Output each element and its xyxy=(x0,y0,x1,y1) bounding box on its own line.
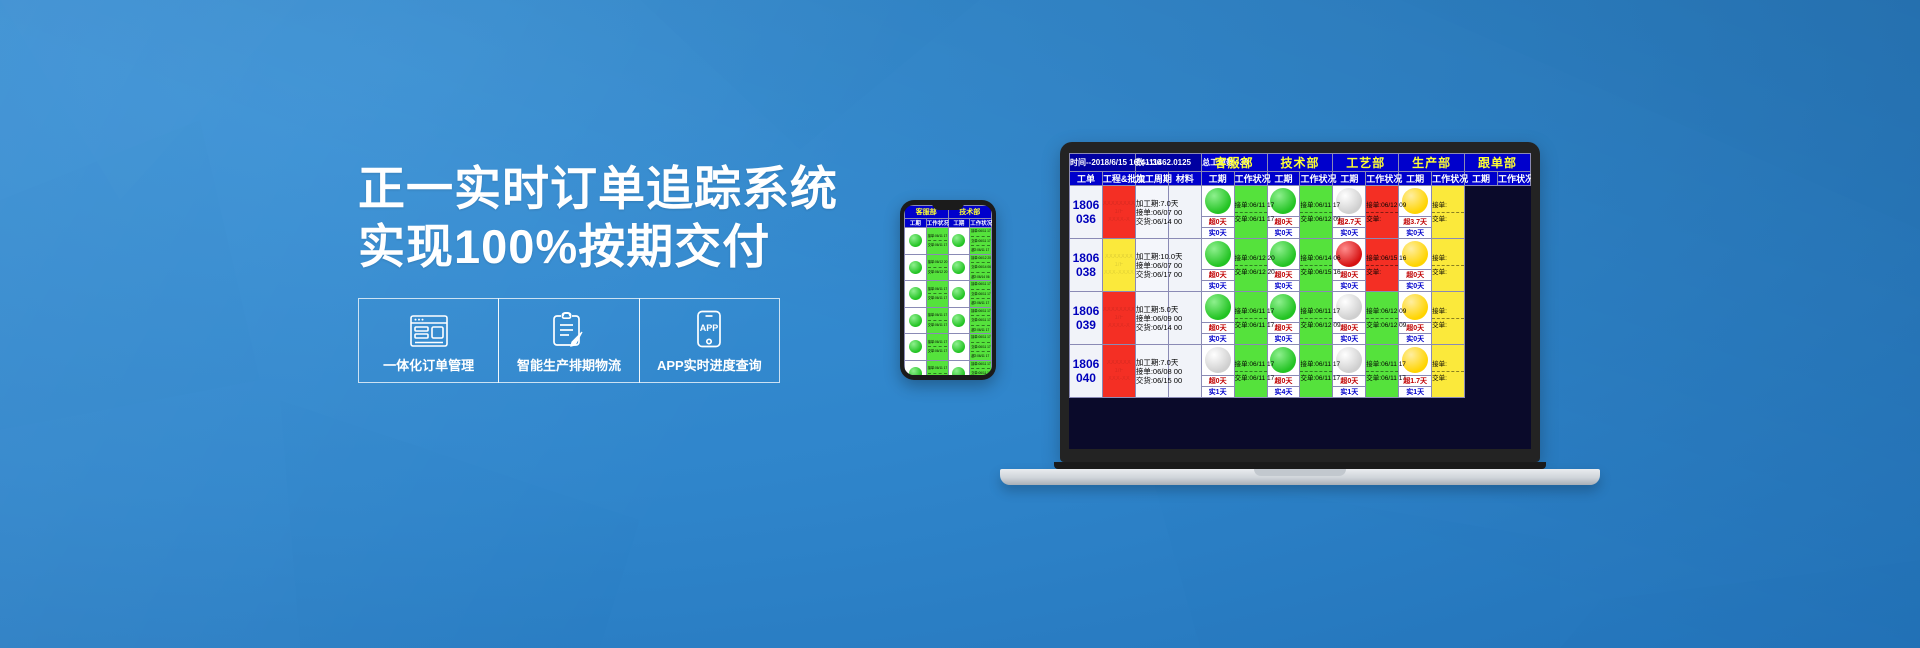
table-info-row: 时间--2018/6/15 16:41:36 数--11462.0125 总工单… xyxy=(1070,154,1531,172)
received-time: 接单:06/11 17 xyxy=(928,340,947,345)
cell-order-no: 1806036 xyxy=(1070,186,1103,239)
col-duration: 工期 xyxy=(1399,172,1432,186)
received-time: 接单: xyxy=(1432,307,1464,316)
actual-days-label: 实4天 xyxy=(1268,386,1300,397)
col-status: 工作状况 xyxy=(1497,172,1530,186)
actual-days-label: 实1天 xyxy=(1399,386,1431,397)
cell-order-no: 1806040 xyxy=(1070,345,1103,398)
feature-label: 智能生产排期物流 xyxy=(517,355,621,374)
cell-duration: 超0天实0天 xyxy=(1267,186,1300,239)
over-days-label: 超3.7天 xyxy=(1399,216,1431,227)
cell-work-status: 接单:06/11 17交单:06/11 17 xyxy=(1366,345,1399,398)
cell-duration: 超0天实0天 xyxy=(1333,292,1366,345)
cell-project: XXXXXXX1/FXXX-XXXX xyxy=(1102,239,1135,292)
phone-cell-status: 接单:06/11 17交单:06/11 17超2:06/11 17 xyxy=(970,334,992,361)
phone-cell-duration xyxy=(905,228,927,255)
phone-cell-duration xyxy=(905,360,927,375)
delivered-time: 交单:06/11 17 xyxy=(1300,374,1332,383)
actual-days-label: 实0天 xyxy=(1202,227,1234,238)
delivered-time: 交单:06/11 17 xyxy=(928,243,947,248)
phone-cell-status: 接单:06/11 17交单:06/11 17超2:06/11 17 xyxy=(970,228,992,255)
delivered-time: 交单: xyxy=(1432,268,1464,277)
delivered-time: 交单: xyxy=(1366,268,1398,277)
delivered-time: 交单:06/11 17 xyxy=(1235,321,1267,330)
actual-days-label: 实0天 xyxy=(1268,227,1300,238)
received-time: 接单:06/11 17 xyxy=(1300,201,1332,210)
laptop-screen[interactable]: 时间--2018/6/15 16:41:36 数--11462.0125 总工单… xyxy=(1069,153,1531,449)
phone-cell-status: 接单:06/11 17交单:06/11 17超2:06/11 17 xyxy=(970,307,992,334)
status-dot-green xyxy=(1270,294,1296,320)
delivered-time: 交单:06/11 17 xyxy=(1235,215,1267,224)
cell-work-status: 接单:06/11 17交单:06/11 17 xyxy=(1234,345,1267,398)
col-duration: 工期 xyxy=(1267,172,1300,186)
cell-duration: 超0天实0天 xyxy=(1201,239,1234,292)
cell-duration: 超2.7天实0天 xyxy=(1333,186,1366,239)
phone-cell-duration xyxy=(948,254,970,281)
phone-mockup: 客服部 技术部 工期 工作状况 工期 工作状况 接单:06/11 17交单:06… xyxy=(900,200,996,380)
actual-days-label: 实0天 xyxy=(1399,333,1431,344)
delivered-time: 交单:06/15 16 xyxy=(1300,268,1332,277)
delivered-time: 交单:06/11 17 xyxy=(971,371,990,375)
cell-work-status: 接单:06/12 09交单: xyxy=(1366,186,1399,239)
received-time: 接单:06/14 06 xyxy=(1300,254,1332,263)
phone-cell-status: 接单:06/11 17交单:06/11 17超2:06/11 17 xyxy=(970,281,992,308)
cell-work-status: 接单:交单: xyxy=(1432,239,1465,292)
phone-col-status: 工作状况 xyxy=(926,219,948,228)
phone-table-row[interactable]: 接单:06/11 17交单:06/11 17接单:06/11 17交单:06/1… xyxy=(905,281,992,308)
received-time: 接单:06/11 17 xyxy=(971,229,990,234)
feature-label: 一体化订单管理 xyxy=(383,355,474,374)
phone-table-row[interactable]: 接单:06/12 20交单:06/12 20接单:06/12 20交单:06/1… xyxy=(905,254,992,281)
phone-cell-duration xyxy=(948,307,970,334)
delivered-time: 交单:06/11 17 xyxy=(1235,374,1267,383)
phone-order-table: 客服部 技术部 工期 工作状况 工期 工作状况 接单:06/11 17交单:06… xyxy=(904,205,992,375)
cell-duration: 超0天实4天 xyxy=(1267,345,1300,398)
laptop-mockup: 时间--2018/6/15 16:41:36 数--11462.0125 总工单… xyxy=(1060,142,1600,485)
cell-order-no: 1806039 xyxy=(1070,292,1103,345)
phone-cell-status: 接单:06/11 17交单:06/11 17 xyxy=(926,360,948,375)
status-dot-green xyxy=(952,234,965,247)
col-duration: 工期 xyxy=(1465,172,1498,186)
phone-cell-duration xyxy=(948,281,970,308)
over-days-label: 超0天 xyxy=(1202,322,1234,333)
info-amount: 数--11462.0125 总工单数--38 xyxy=(1135,154,1201,172)
actual-days-label: 实1天 xyxy=(1333,386,1365,397)
received-time: 接单:06/11 17 xyxy=(1235,360,1267,369)
feature-order-management[interactable]: 一体化订单管理 xyxy=(358,298,499,383)
col-cycle: 加工周期 xyxy=(1135,172,1168,186)
table-row[interactable]: 1806038XXXXXXX1/FXXX-XXXX加工期:10.0天接单:06/… xyxy=(1070,239,1531,292)
table-column-header-row: 工单 工程&批次 加工周期 材料 工期 工作状况 工期 工作状况 工期 工作状况… xyxy=(1070,172,1531,186)
delivered-time: 交单: xyxy=(1366,215,1398,224)
delivered-time: 交单:06/11 17 xyxy=(971,345,990,350)
over-days-label: 超0天 xyxy=(1399,269,1431,280)
cell-cycle: 加工期:5.0天接单:06/09 00交货:06/14 00 xyxy=(1135,292,1168,345)
received-time: 接单:06/12 20 xyxy=(928,260,947,265)
cell-work-status: 接单:06/15 16交单: xyxy=(1366,239,1399,292)
received-time: 接单:06/12 20 xyxy=(971,256,990,261)
col-status: 工作状况 xyxy=(1300,172,1333,186)
status-dot-red xyxy=(1336,241,1362,267)
cell-duration: 超3.7天实0天 xyxy=(1399,186,1432,239)
feature-app-progress[interactable]: APP APP实时进度查询 xyxy=(639,298,780,383)
status-dot-yellow xyxy=(1402,241,1428,267)
phone-cell-duration xyxy=(905,254,927,281)
delivered-time: 交单:06/12 20 xyxy=(928,270,947,275)
phone-dept-header: 客服部 xyxy=(905,206,949,219)
col-status: 工作状况 xyxy=(1234,172,1267,186)
cell-duration: 超0天实0天 xyxy=(1333,239,1366,292)
cell-work-status: 接单:06/14 06交单:06/15 16 xyxy=(1300,239,1333,292)
extra-time: 超2:06/11 17 xyxy=(971,248,990,253)
laptop-lid: 时间--2018/6/15 16:41:36 数--11462.0125 总工单… xyxy=(1060,142,1540,462)
hero-copy: 正一实时订单追踪系统 实现100%按期交付 一体化订单管理 xyxy=(358,160,878,383)
cell-project: XXXXXXXX1/FXXXX-X xyxy=(1102,186,1135,239)
received-time: 接单:06/11 17 xyxy=(1235,307,1267,316)
status-dot-white xyxy=(1336,294,1362,320)
status-dot-white xyxy=(1336,188,1362,214)
status-dot-white xyxy=(1205,347,1231,373)
delivered-time: 交单: xyxy=(1432,215,1464,224)
received-time: 接单:06/11 17 xyxy=(928,234,947,239)
phone-screen[interactable]: 客服部 技术部 工期 工作状况 工期 工作状况 接单:06/11 17交单:06… xyxy=(904,205,992,375)
received-time: 接单: xyxy=(1432,254,1464,263)
clipboard-schedule-icon xyxy=(552,308,586,348)
status-dot-green xyxy=(1205,188,1231,214)
status-dot-green xyxy=(952,340,965,353)
actual-days-label: 实0天 xyxy=(1202,333,1234,344)
dept-header-followup: 跟单部 xyxy=(1465,154,1531,172)
delivered-time: 交单:06/11 17 xyxy=(928,296,947,301)
order-management-icon xyxy=(409,308,449,348)
received-time: 接单:06/11 17 xyxy=(928,287,947,292)
phone-cell-status: 接单:06/12 20交单:06/12 20 xyxy=(926,254,948,281)
table-row[interactable]: 1806036XXXXXXXX1/FXXXX-X加工期:7.0天接单:06/07… xyxy=(1070,186,1531,239)
feature-box-list: 一体化订单管理 智能生产排期物流 xyxy=(358,298,779,383)
delivered-time: 交单: xyxy=(1432,321,1464,330)
col-order-no: 工单 xyxy=(1070,172,1103,186)
phone-cell-duration xyxy=(905,334,927,361)
cell-work-status: 接单:06/12 09交单:06/12 09 xyxy=(1366,292,1399,345)
app-badge-text: APP xyxy=(700,323,719,333)
phone-table-row[interactable]: 接单:06/11 17交单:06/11 17接单:06/11 17交单:06/1… xyxy=(905,360,992,375)
phone-table-row[interactable]: 接单:06/11 17交单:06/11 17接单:06/11 17交单:06/1… xyxy=(905,228,992,255)
table-row[interactable]: 1806039XXXXXXXXXXX1/FXXXX-X加工期:5.0天接单:06… xyxy=(1070,292,1531,345)
received-time: 接单:06/11 17 xyxy=(971,335,990,340)
received-time: 接单:06/11 17 xyxy=(928,366,947,371)
phone-dept-header-row: 客服部 技术部 xyxy=(905,206,992,219)
cell-duration: 超1.7天实1天 xyxy=(1399,345,1432,398)
phone-cell-duration xyxy=(905,307,927,334)
status-dot-green xyxy=(1270,188,1296,214)
status-dot-white xyxy=(1336,347,1362,373)
received-time: 接单:06/11 17 xyxy=(1235,201,1267,210)
status-dot-green xyxy=(909,234,922,247)
phone-col-header-row: 工期 工作状况 工期 工作状况 xyxy=(905,219,992,228)
status-dot-yellow xyxy=(1402,294,1428,320)
status-dot-green xyxy=(1270,347,1296,373)
cell-work-status: 接单:06/12 20交单:06/12 20 xyxy=(1234,239,1267,292)
phone-cell-status: 接单:06/12 20交单:06/14 06超2:06/14 06 xyxy=(970,254,992,281)
cell-cycle: 加工期:7.0天接单:06/08 00交货:06/15 00 xyxy=(1135,345,1168,398)
cell-duration: 超0天实1天 xyxy=(1201,345,1234,398)
cell-work-status: 接单:交单: xyxy=(1432,345,1465,398)
received-time: 接单:06/11 17 xyxy=(1366,360,1398,369)
phone-cell-status: 接单:06/11 17交单:06/11 17 xyxy=(926,281,948,308)
cell-work-status: 接单:06/11 17交单:06/12 09 xyxy=(1300,292,1333,345)
received-time: 接单:06/11 17 xyxy=(928,313,947,318)
status-dot-yellow xyxy=(1402,347,1428,373)
status-dot-yellow xyxy=(1402,188,1428,214)
over-days-label: 超1.7天 xyxy=(1399,375,1431,386)
cell-work-status: 接单:06/11 17交单:06/11 17 xyxy=(1234,292,1267,345)
phone-cell-duration xyxy=(948,228,970,255)
received-time: 接单:06/15 16 xyxy=(1366,254,1398,263)
received-time: 接单:06/11 17 xyxy=(971,362,990,367)
col-duration: 工期 xyxy=(1201,172,1234,186)
cell-duration: 超0天实0天 xyxy=(1201,292,1234,345)
delivered-time: 交单: xyxy=(1432,374,1464,383)
delivered-time: 交单:06/12 09 xyxy=(1300,215,1332,224)
status-dot-green xyxy=(1205,294,1231,320)
status-dot-green xyxy=(952,314,965,327)
headline-line-1: 正一实时订单追踪系统 xyxy=(358,160,878,218)
phone-cell-duration xyxy=(948,334,970,361)
received-time: 接单:06/11 17 xyxy=(1300,360,1332,369)
table-row[interactable]: 1806040XXXXXX1/FXXX-XX加工期:7.0天接单:06/08 0… xyxy=(1070,345,1531,398)
laptop-hinge xyxy=(1054,462,1546,469)
cell-cycle: 加工期:7.0天接单:06/07 00交货:06/14 00 xyxy=(1135,186,1168,239)
status-dot-green xyxy=(1205,241,1231,267)
mobile-app-icon: APP xyxy=(696,308,722,348)
status-dot-green xyxy=(909,287,922,300)
status-dot-green xyxy=(1270,241,1296,267)
status-dot-green xyxy=(909,367,922,375)
actual-days-label: 实0天 xyxy=(1399,227,1431,238)
col-duration: 工期 xyxy=(1333,172,1366,186)
cell-cycle: 加工期:10.0天接单:06/07 00交货:06/17 00 xyxy=(1135,239,1168,292)
actual-days-label: 实0天 xyxy=(1333,280,1365,291)
actual-days-label: 实0天 xyxy=(1333,227,1365,238)
delivered-time: 交单:06/12 09 xyxy=(1366,321,1398,330)
delivered-time: 交单:06/14 06 xyxy=(971,265,990,270)
over-days-label: 超0天 xyxy=(1202,375,1234,386)
info-amount-text: 数--11462.0125 xyxy=(1136,158,1191,167)
actual-days-label: 实0天 xyxy=(1268,280,1300,291)
cell-work-status: 接单:06/11 17交单:06/11 17 xyxy=(1300,345,1333,398)
received-time: 接单:06/12 09 xyxy=(1366,307,1398,316)
received-time: 接单:06/11 17 xyxy=(1300,307,1332,316)
phone-col-status: 工作状况 xyxy=(970,219,992,228)
phone-cell-status: 接单:06/11 17交单:06/11 17 xyxy=(926,334,948,361)
actual-days-label: 实0天 xyxy=(1333,333,1365,344)
dept-header-production: 生产部 xyxy=(1399,154,1465,172)
device-mockups: 客服部 技术部 工期 工作状况 工期 工作状况 接单:06/11 17交单:06… xyxy=(900,130,1700,550)
extra-time: 超2:06/11 17 xyxy=(971,328,990,333)
delivered-time: 交单:06/11 17 xyxy=(928,349,947,354)
received-time: 接单:06/11 17 xyxy=(971,282,990,287)
cell-project: XXXXXXXXXXX1/FXXXX-X xyxy=(1102,292,1135,345)
cell-duration: 超0天实0天 xyxy=(1201,186,1234,239)
received-time: 接单: xyxy=(1432,360,1464,369)
laptop-base xyxy=(1000,469,1600,485)
phone-table-row[interactable]: 接单:06/11 17交单:06/11 17接单:06/11 17交单:06/1… xyxy=(905,307,992,334)
over-days-label: 超0天 xyxy=(1202,216,1234,227)
cell-duration: 超0天实1天 xyxy=(1333,345,1366,398)
phone-cell-status: 接单:06/11 17交单:06/11 17超2:06/11 17 xyxy=(970,360,992,375)
actual-days-label: 实1天 xyxy=(1202,386,1234,397)
over-days-label: 超2.7天 xyxy=(1333,216,1365,227)
received-time: 接单: xyxy=(1432,201,1464,210)
col-status: 工作状况 xyxy=(1366,172,1399,186)
cell-work-status: 接单:06/11 17交单:06/11 17 xyxy=(1234,186,1267,239)
actual-days-label: 实0天 xyxy=(1268,333,1300,344)
dept-header-technical: 技术部 xyxy=(1267,154,1333,172)
status-dot-green xyxy=(909,261,922,274)
feature-production-schedule[interactable]: 智能生产排期物流 xyxy=(498,298,639,383)
phone-table-row[interactable]: 接单:06/11 17交单:06/11 17接单:06/11 17交单:06/1… xyxy=(905,334,992,361)
info-time: 时间--2018/6/15 16:41:36 xyxy=(1070,154,1136,172)
delivered-time: 交单:06/11 17 xyxy=(971,239,990,244)
phone-cell-duration xyxy=(905,281,927,308)
cell-duration: 超0天实0天 xyxy=(1267,292,1300,345)
col-status: 工作状况 xyxy=(1432,172,1465,186)
phone-cell-status: 接单:06/11 17交单:06/11 17 xyxy=(926,228,948,255)
feature-label: APP实时进度查询 xyxy=(657,355,762,374)
status-dot-green xyxy=(909,314,922,327)
over-days-label: 超0天 xyxy=(1202,269,1234,280)
status-dot-green xyxy=(952,367,965,375)
phone-col-duration: 工期 xyxy=(948,219,970,228)
headline-line-2: 实现100%按期交付 xyxy=(358,218,878,276)
phone-col-duration: 工期 xyxy=(905,219,927,228)
cell-order-no: 1806038 xyxy=(1070,239,1103,292)
cell-work-status: 接单:交单: xyxy=(1432,292,1465,345)
cell-duration: 超0天实0天 xyxy=(1399,239,1432,292)
delivered-time: 交单:06/11 17 xyxy=(928,323,947,328)
status-dot-green xyxy=(952,261,965,274)
delivered-time: 交单:06/11 17 xyxy=(971,292,990,297)
extra-time: 超2:06/14 06 xyxy=(971,275,990,280)
status-dot-green xyxy=(909,340,922,353)
order-tracking-table: 时间--2018/6/15 16:41:36 数--11462.0125 总工单… xyxy=(1069,153,1531,398)
delivered-time: 交单:06/12 09 xyxy=(1300,321,1332,330)
dept-header-process: 工艺部 xyxy=(1333,154,1399,172)
delivered-time: 交单:06/11 17 xyxy=(971,318,990,323)
phone-cell-duration xyxy=(948,360,970,375)
actual-days-label: 实0天 xyxy=(1202,280,1234,291)
cell-work-status: 接单:交单: xyxy=(1432,186,1465,239)
table-body: 1806036XXXXXXXX1/FXXXX-X加工期:7.0天接单:06/07… xyxy=(1070,186,1531,398)
cell-work-status: 接单:06/11 17交单:06/12 09 xyxy=(1300,186,1333,239)
extra-time: 超2:06/11 17 xyxy=(971,354,990,359)
col-project: 工程&批次 xyxy=(1102,172,1135,186)
extra-time: 超2:06/11 17 xyxy=(971,301,990,306)
delivered-time: 交单:06/11 17 xyxy=(1366,374,1398,383)
received-time: 接单:06/12 09 xyxy=(1366,201,1398,210)
received-time: 接单:06/12 20 xyxy=(1235,254,1267,263)
phone-table-body: 接单:06/11 17交单:06/11 17接单:06/11 17交单:06/1… xyxy=(905,228,992,376)
received-time: 接单:06/11 17 xyxy=(971,309,990,314)
status-dot-green xyxy=(952,287,965,300)
phone-cell-status: 接单:06/11 17交单:06/11 17 xyxy=(926,307,948,334)
actual-days-label: 实0天 xyxy=(1399,280,1431,291)
cell-duration: 超0天实0天 xyxy=(1267,239,1300,292)
delivered-time: 交单:06/12 20 xyxy=(1235,268,1267,277)
cell-project: XXXXXX1/FXXX-XX xyxy=(1102,345,1135,398)
cell-duration: 超0天实0天 xyxy=(1399,292,1432,345)
col-material: 材料 xyxy=(1168,172,1201,186)
phone-dept-header: 技术部 xyxy=(948,206,992,219)
